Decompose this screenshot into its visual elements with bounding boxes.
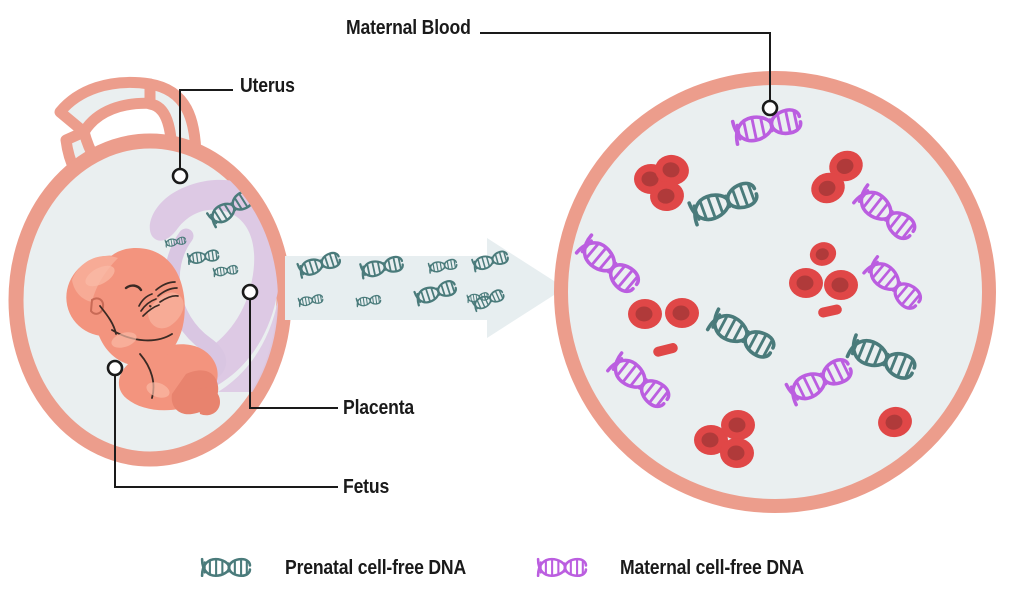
- red-blood-cell: [665, 298, 699, 328]
- marker-maternal-blood: [763, 101, 777, 115]
- diagram-canvas: Maternal Blood Uterus Placenta Fetus Pre…: [0, 0, 1017, 610]
- red-blood-cell: [720, 438, 754, 468]
- label-placenta: Placenta: [343, 398, 414, 418]
- label-maternal-blood: Maternal Blood: [346, 18, 471, 38]
- red-blood-cell: [628, 299, 662, 329]
- dna-helix-icon: [538, 559, 586, 576]
- dna-helix-icon: [202, 559, 250, 576]
- marker-fetus: [108, 361, 122, 375]
- dna-transfer-arrow: [285, 238, 565, 338]
- red-blood-cell: [721, 410, 755, 440]
- red-blood-cell: [789, 268, 823, 298]
- legend-label-maternal: Maternal cell-free DNA: [620, 558, 804, 578]
- marker-placenta: [243, 285, 257, 299]
- label-fetus: Fetus: [343, 477, 389, 497]
- red-blood-cell: [824, 270, 858, 300]
- maternal-blood-circle: [561, 78, 989, 506]
- label-uterus: Uterus: [240, 76, 295, 96]
- legend-label-prenatal: Prenatal cell-free DNA: [285, 558, 466, 578]
- marker-uterus: [173, 169, 187, 183]
- diagram-svg: [0, 0, 1017, 610]
